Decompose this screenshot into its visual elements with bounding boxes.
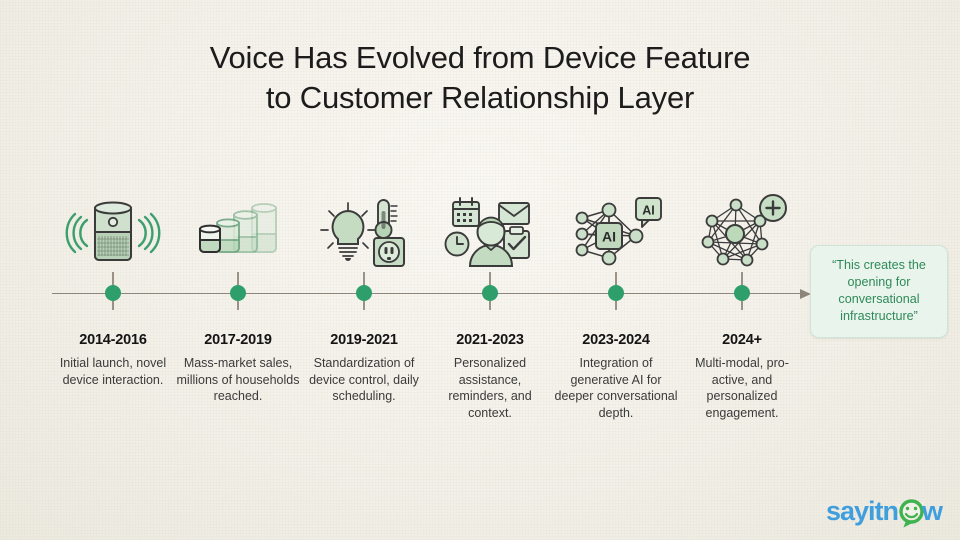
milestone-dot[interactable] — [230, 285, 246, 301]
milestone-era: 2017-2019 — [176, 332, 300, 348]
milestone-era: 2024+ — [680, 332, 804, 348]
timeline-milestone-3[interactable]: 2019-2021 Standardization of device cont… — [302, 188, 426, 405]
dense-network-plus-badge-icon — [680, 188, 804, 270]
timeline-milestone-1[interactable]: 2014-2016 Initial launch, novel device i… — [51, 188, 175, 388]
milestone-description: Initial launch, novel device interaction… — [51, 355, 175, 388]
person-calendar-mail-clock-checklist-icon — [428, 188, 552, 270]
milestone-era: 2014-2016 — [51, 332, 175, 348]
svg-text:AI: AI — [642, 204, 655, 218]
title-line-1: Voice Has Evolved from Device Feature — [0, 38, 960, 78]
svg-text:sayitn: sayitn — [826, 496, 898, 526]
multiple-speakers-growth-icon — [176, 188, 300, 270]
milestone-description: Integration of generative AI for deeper … — [554, 355, 678, 421]
neural-network-ai-chat-icon: AI AI — [554, 188, 678, 270]
milestone-description: Multi-modal, pro-active, and personalize… — [680, 355, 804, 421]
smart-speaker-sound-waves-icon — [51, 188, 175, 270]
timeline-milestone-6[interactable]: 2024+ Multi-modal, pro-active, and perso… — [680, 188, 804, 421]
svg-text:AI: AI — [602, 229, 616, 245]
milestone-era: 2019-2021 — [302, 332, 426, 348]
page-title: Voice Has Evolved from Device Feature to… — [0, 38, 960, 118]
slide-canvas: Voice Has Evolved from Device Feature to… — [0, 0, 960, 540]
timeline-milestone-4[interactable]: 2021-2023 Personalized assistance, remin… — [428, 188, 552, 421]
milestone-description: Standardization of device control, daily… — [302, 355, 426, 405]
milestone-era: 2021-2023 — [428, 332, 552, 348]
milestone-era: 2023-2024 — [554, 332, 678, 348]
sayitnow-logo[interactable]: sayitn w — [826, 494, 948, 528]
milestone-dot[interactable] — [356, 285, 372, 301]
timeline-milestone-5[interactable]: AI AI 2023-2024 Integration of generativ… — [554, 188, 678, 421]
milestone-dot[interactable] — [734, 285, 750, 301]
lightbulb-thermostat-outlet-icon — [302, 188, 426, 270]
title-line-2: to Customer Relationship Layer — [0, 78, 960, 118]
milestone-dot[interactable] — [105, 285, 121, 301]
svg-text:w: w — [921, 496, 944, 526]
milestone-dot[interactable] — [482, 285, 498, 301]
milestone-description: Mass-market sales, millions of household… — [176, 355, 300, 405]
quote-callout: “This creates the opening for conversati… — [810, 245, 948, 338]
milestone-description: Personalized assistance, reminders, and … — [428, 355, 552, 421]
milestone-dot[interactable] — [608, 285, 624, 301]
timeline-milestone-2[interactable]: 2017-2019 Mass-market sales, millions of… — [176, 188, 300, 405]
